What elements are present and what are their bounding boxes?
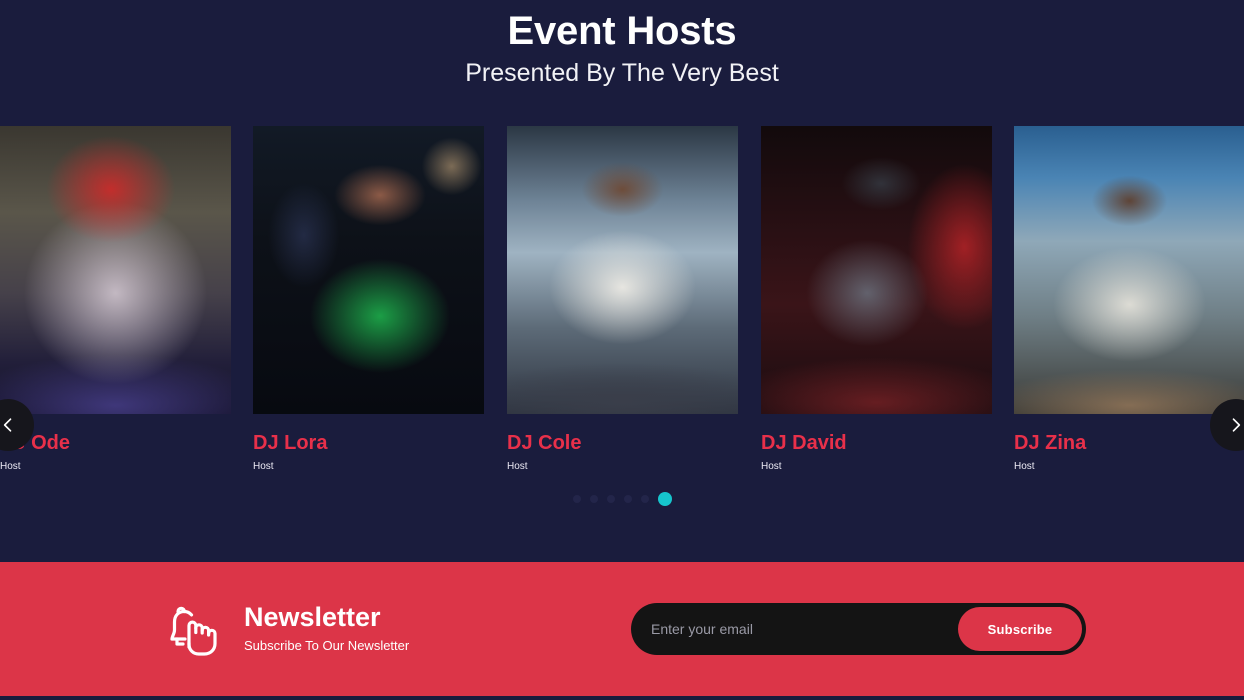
host-name: DJ Cole	[507, 432, 738, 454]
host-name: DJ Zina	[1014, 432, 1244, 454]
chevron-right-icon	[1226, 415, 1244, 435]
host-photo-image	[253, 126, 484, 414]
host-card[interactable]: DJ ColeHost	[507, 126, 738, 472]
host-photo[interactable]	[507, 126, 738, 414]
page-title: Event Hosts	[0, 8, 1244, 54]
page-subtitle: Presented By The Very Best	[0, 58, 1244, 88]
subscribe-button[interactable]: Subscribe	[958, 607, 1082, 651]
newsletter-section: Newsletter Subscribe To Our Newsletter S…	[0, 562, 1244, 696]
pagination-dot[interactable]	[573, 495, 581, 503]
bottom-strip	[0, 696, 1244, 700]
host-card[interactable]: DJ DavidHost	[761, 126, 992, 472]
host-name: DJ Lora	[253, 432, 484, 454]
pagination-dot[interactable]	[658, 492, 672, 506]
host-card[interactable]: DJ LoraHost	[253, 126, 484, 472]
email-input[interactable]	[635, 607, 958, 651]
host-role: Host	[507, 461, 738, 472]
host-name: DJ David	[761, 432, 992, 454]
section-header: Event Hosts Presented By The Very Best	[0, 0, 1244, 88]
host-role: Host	[0, 461, 231, 472]
carousel-track: DJ OdeHostDJ LoraHostDJ ColeHostDJ David…	[0, 126, 1244, 486]
newsletter-subtitle: Subscribe To Our Newsletter	[244, 639, 409, 653]
chevron-left-icon	[0, 415, 18, 435]
pagination-dot[interactable]	[641, 495, 649, 503]
host-photo-image	[0, 126, 231, 414]
host-role: Host	[761, 461, 992, 472]
host-name: DJ Ode	[0, 432, 231, 454]
bell-hand-icon	[158, 597, 222, 661]
host-photo[interactable]	[1014, 126, 1244, 414]
pagination-dot[interactable]	[624, 495, 632, 503]
host-photo[interactable]	[0, 126, 231, 414]
host-card[interactable]: DJ OdeHost	[0, 126, 231, 472]
host-role: Host	[253, 461, 484, 472]
newsletter-brand: Newsletter Subscribe To Our Newsletter	[158, 597, 409, 661]
host-photo-image	[1014, 126, 1244, 414]
host-photo[interactable]	[761, 126, 992, 414]
pagination-dot[interactable]	[607, 495, 615, 503]
hosts-carousel: DJ OdeHostDJ LoraHostDJ ColeHostDJ David…	[0, 126, 1244, 486]
newsletter-form: Subscribe	[631, 603, 1086, 655]
host-photo-image	[761, 126, 992, 414]
carousel-pagination	[0, 492, 1244, 506]
host-photo-image	[507, 126, 738, 414]
host-photo[interactable]	[253, 126, 484, 414]
pagination-dot[interactable]	[590, 495, 598, 503]
newsletter-title: Newsletter	[244, 603, 409, 633]
host-role: Host	[1014, 461, 1244, 472]
